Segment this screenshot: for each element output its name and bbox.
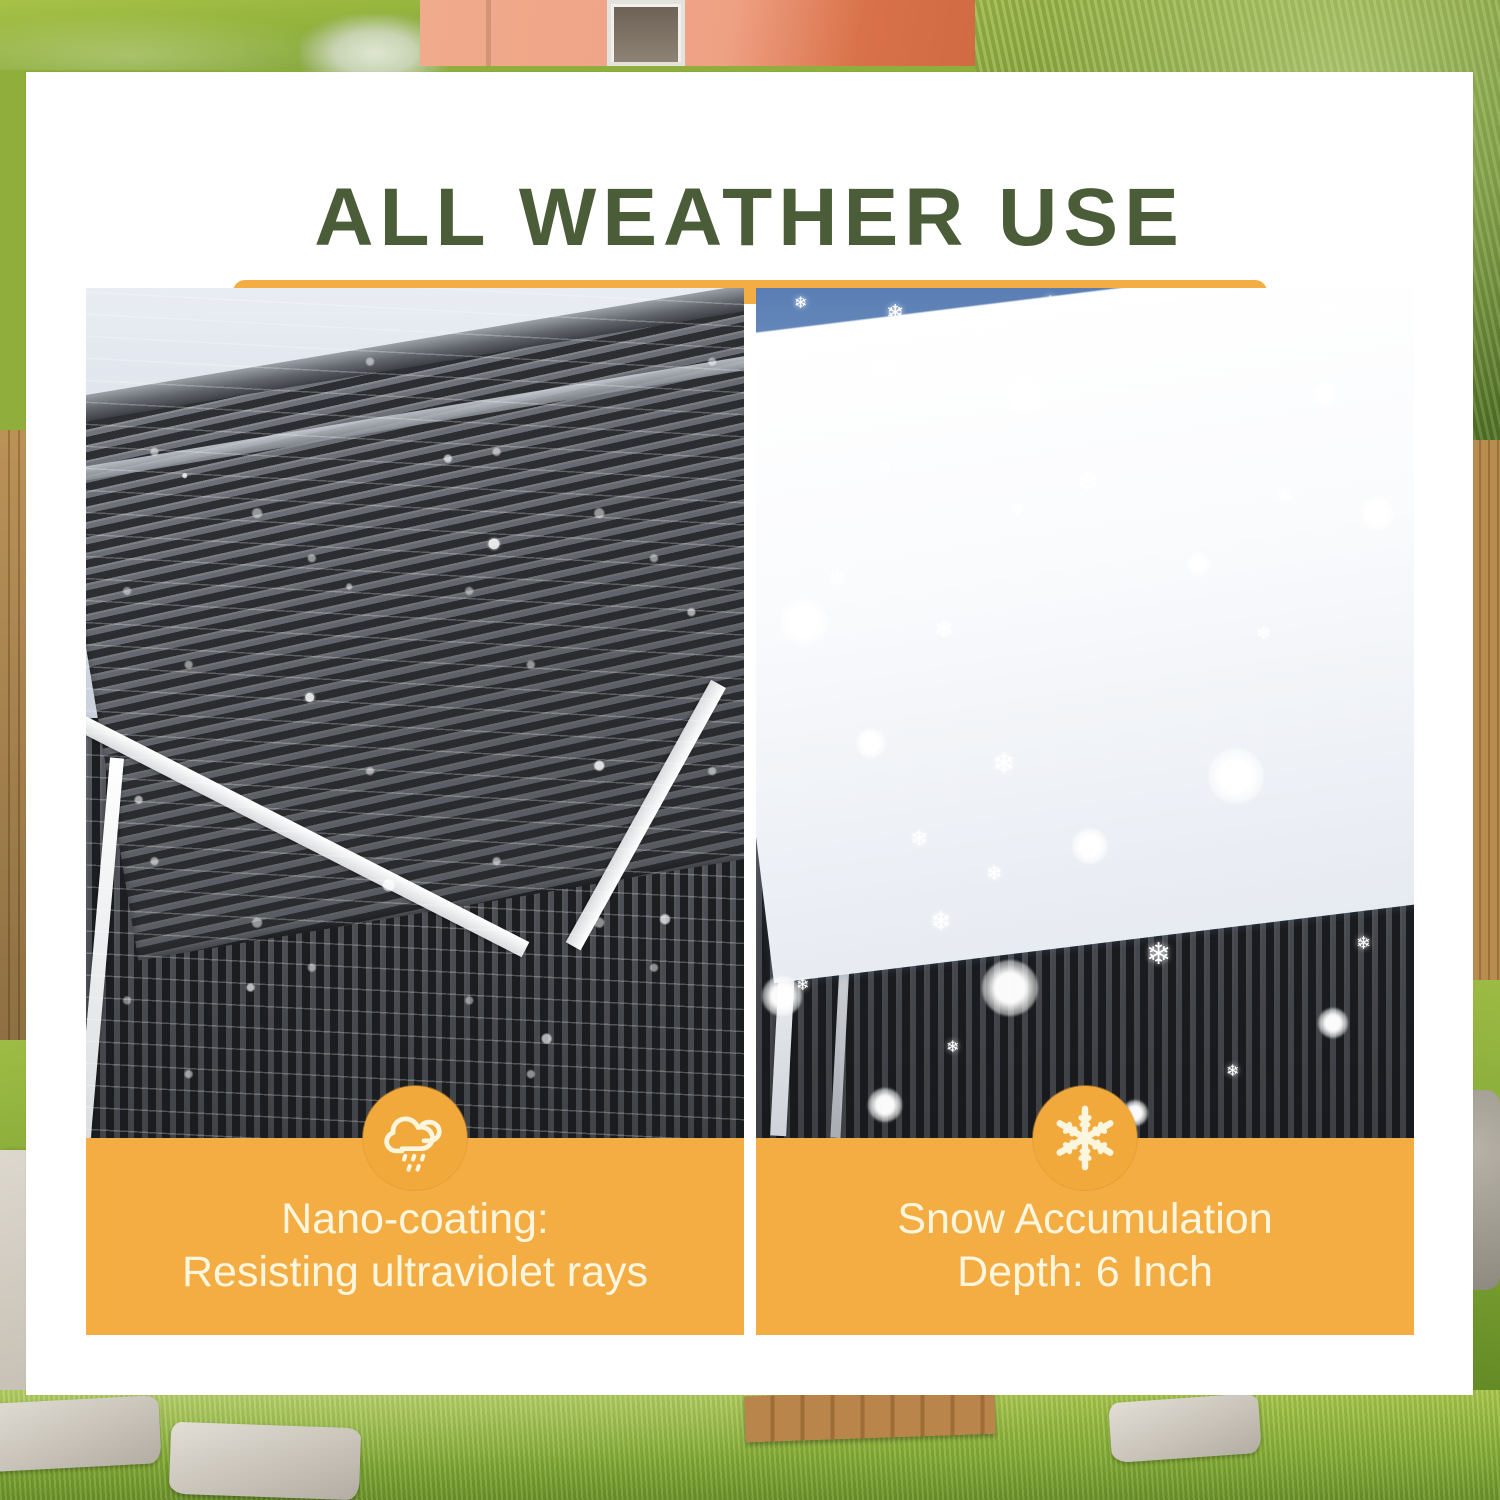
background-house-wall — [420, 0, 980, 66]
rain-streaks — [86, 288, 744, 1141]
snow-photo: ❄ ❄ ❄ ❄ ❄ ❄ ❄ ❄ ❄ ❄ ❄ ❄ ❄ ❄ ❄ ❄ ❄ — [756, 288, 1414, 1141]
background-stepping-stone — [169, 1422, 361, 1500]
snow-panel: ❄ ❄ ❄ ❄ ❄ ❄ ❄ ❄ ❄ ❄ ❄ ❄ ❄ ❄ ❄ ❄ ❄ — [756, 288, 1414, 1335]
rain-caption-line-1: Nano-coating: — [281, 1193, 549, 1246]
snow-caption-band: Snow Accumulation Depth: 6 Inch — [756, 1138, 1414, 1335]
snow-caption-line-1: Snow Accumulation — [897, 1193, 1272, 1246]
background-stepping-stone — [0, 1395, 162, 1473]
background-garden-scene: ALL WEATHER USE — [0, 0, 1500, 1500]
rain-panel: Nano-coating: Resisting ultraviolet rays — [86, 288, 744, 1335]
cloud-rain-icon — [363, 1086, 467, 1190]
snowflake-icon — [1033, 1086, 1137, 1190]
background-window — [607, 0, 685, 66]
page-title-block: ALL WEATHER USE — [26, 142, 1473, 277]
background-stepping-stone — [1108, 1393, 1262, 1463]
page-title: ALL WEATHER USE — [314, 177, 1185, 259]
background-wood-plank — [744, 1388, 995, 1443]
content-card: ALL WEATHER USE — [26, 72, 1473, 1395]
rain-caption-line-2: Resisting ultraviolet rays — [182, 1246, 648, 1299]
snow-caption-line-2: Depth: 6 Inch — [957, 1246, 1213, 1299]
background-wall-seam — [486, 0, 491, 66]
rain-caption-band: Nano-coating: Resisting ultraviolet rays — [86, 1138, 744, 1335]
shed-roof-snow — [756, 288, 1414, 983]
background-fence-right — [1472, 440, 1500, 1000]
rain-photo — [86, 288, 744, 1141]
